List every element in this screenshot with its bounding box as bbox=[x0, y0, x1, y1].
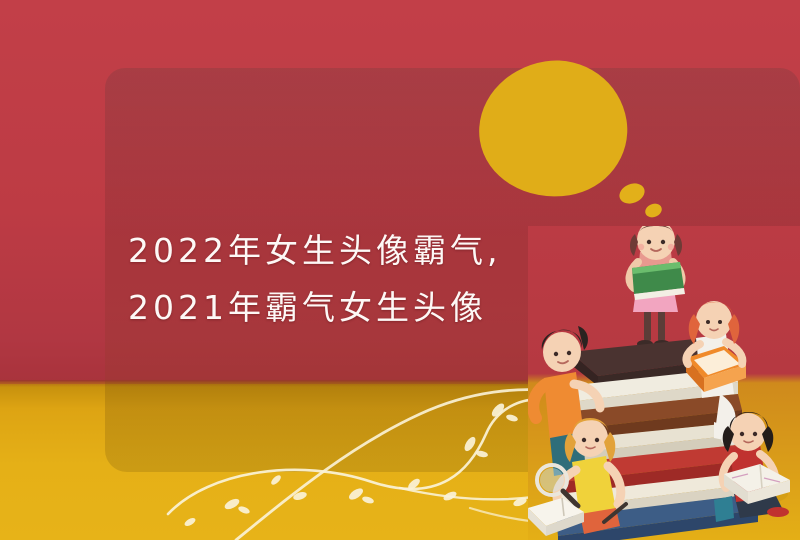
school-bag bbox=[714, 496, 734, 522]
children-reading-illustration bbox=[528, 226, 800, 540]
banner-canvas: 2022年女生头像霸气, 2021年霸气女生头像 bbox=[0, 0, 800, 540]
face bbox=[730, 413, 766, 451]
face bbox=[696, 301, 732, 339]
face bbox=[543, 332, 581, 372]
panel-sheen bbox=[105, 68, 800, 238]
face bbox=[572, 419, 608, 457]
illustration-svg bbox=[528, 226, 800, 540]
green-book bbox=[632, 262, 685, 300]
